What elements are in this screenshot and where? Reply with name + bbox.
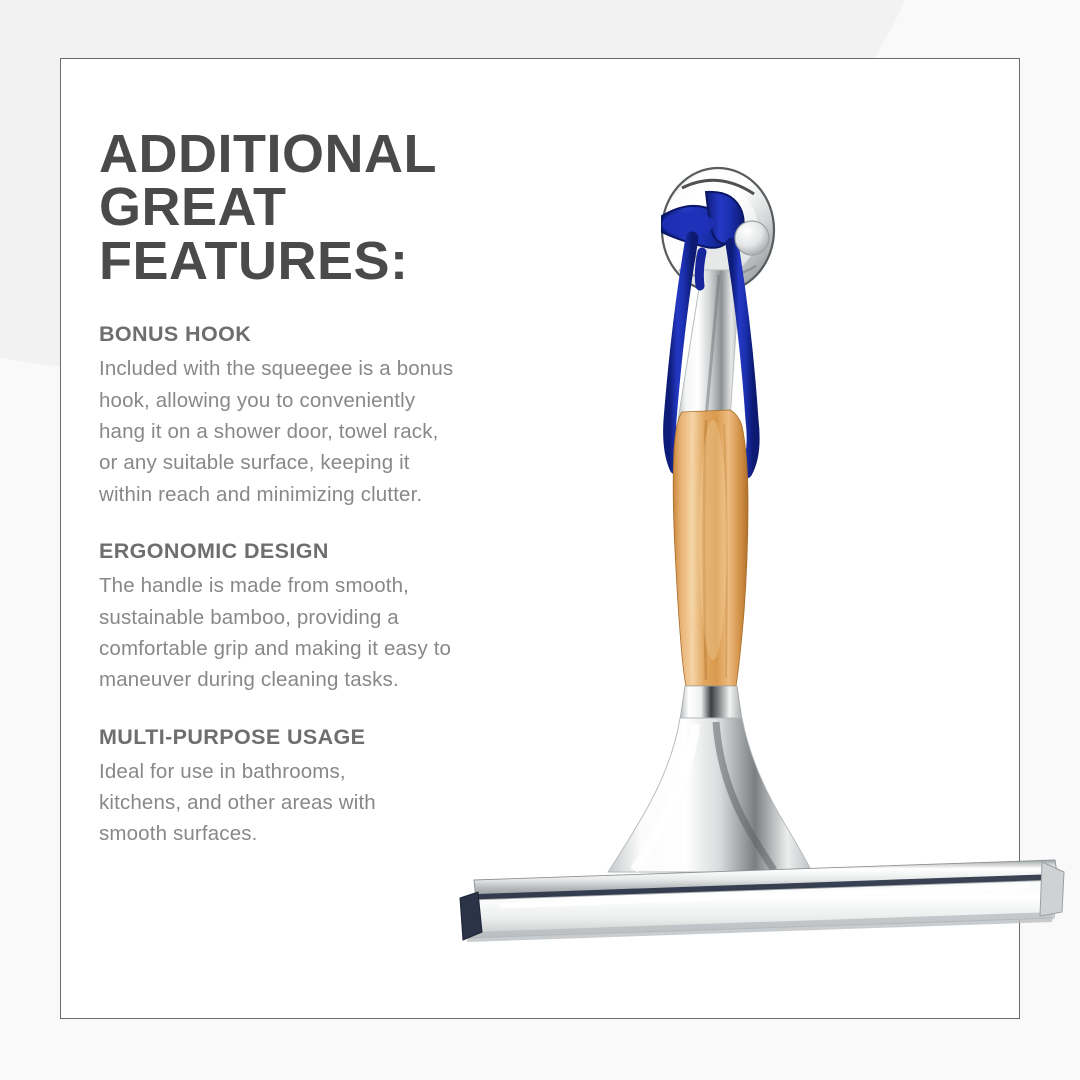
feature-item-multi-purpose-usage: MULTI-PURPOSE USAGE Ideal for use in bat… bbox=[99, 725, 569, 850]
feature-body: The handle is made from smooth, sustaina… bbox=[99, 570, 569, 695]
feature-item-ergonomic-design: ERGONOMIC DESIGN The handle is made from… bbox=[99, 539, 569, 695]
feature-body: Included with the squeegee is a bonus ho… bbox=[99, 353, 569, 510]
feature-body: Ideal for use in bathrooms, kitchens, an… bbox=[99, 756, 569, 850]
feature-heading: ERGONOMIC DESIGN bbox=[99, 539, 569, 564]
infographic-canvas: ADDITIONAL GREAT FEATURES: BONUS HOOK In… bbox=[0, 0, 1080, 1080]
page-title: ADDITIONAL GREAT FEATURES: bbox=[99, 128, 569, 288]
feature-heading: MULTI-PURPOSE USAGE bbox=[99, 725, 569, 750]
text-column: ADDITIONAL GREAT FEATURES: BONUS HOOK In… bbox=[99, 128, 569, 850]
blade-right-end-cap bbox=[1040, 862, 1064, 916]
feature-list: BONUS HOOK Included with the squeegee is… bbox=[99, 322, 569, 849]
feature-item-bonus-hook: BONUS HOOK Included with the squeegee is… bbox=[99, 322, 569, 510]
feature-heading: BONUS HOOK bbox=[99, 322, 569, 347]
